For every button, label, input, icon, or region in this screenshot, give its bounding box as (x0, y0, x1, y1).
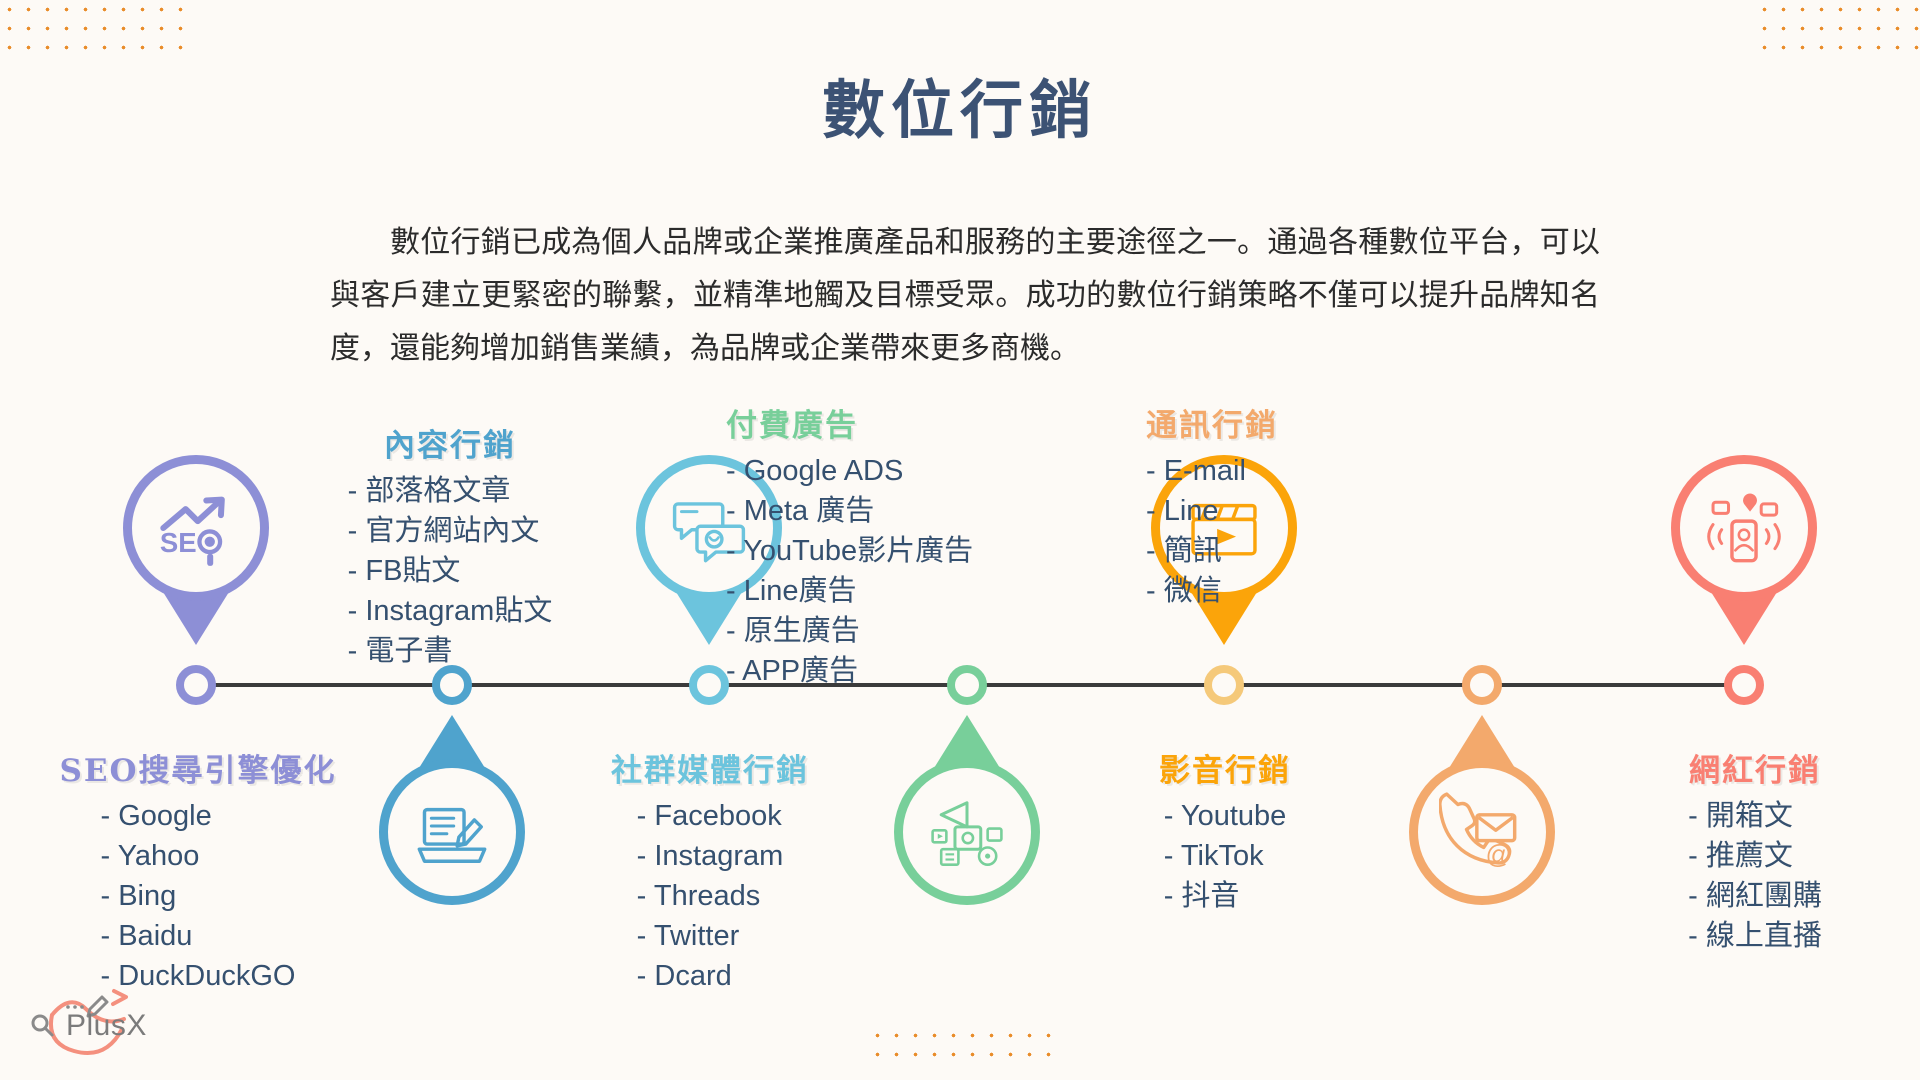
block-social-heading: 社群媒體行銷 (560, 745, 860, 790)
list-item: FB貼文 (348, 551, 553, 591)
block-seo: SEO搜尋引擎優化 Google Yahoo Bing Baidu DuckDu… (38, 745, 358, 996)
pin-content[interactable] (379, 715, 525, 905)
pin-message[interactable]: @ (1409, 715, 1555, 905)
list-item: YouTube影片廣告 (726, 531, 1056, 571)
list-item: Bing (101, 876, 296, 916)
block-message: 通訊行銷 E-mail Line 簡訊 微信 (1146, 400, 1446, 611)
phone-email-icon: @ (1439, 789, 1525, 875)
pin-seo[interactable]: SE (123, 455, 269, 645)
list-item: Google (101, 796, 296, 836)
list-item: Instagram (637, 836, 784, 876)
list-item: TikTok (1164, 836, 1287, 876)
block-social-list: Facebook Instagram Threads Twitter Dcard (637, 796, 784, 996)
timeline-node-influencer[interactable] (1724, 665, 1764, 705)
block-content-list: 部落格文章 官方網站內文 FB貼文 Instagram貼文 電子書 (348, 471, 553, 671)
list-item: Meta 廣告 (726, 491, 1056, 531)
timeline-node-seo[interactable] (176, 665, 216, 705)
block-influencer-list: 開箱文 推薦文 網紅團購 線上直播 (1688, 796, 1822, 956)
seo-chart-icon: SE (153, 485, 239, 571)
list-item: 微信 (1146, 571, 1446, 611)
block-video: 影音行銷 Youtube TikTok 抖音 (1090, 745, 1360, 916)
list-item: Dcard (637, 956, 784, 996)
list-item: Instagram貼文 (348, 591, 553, 631)
list-item: E-mail (1146, 451, 1446, 491)
list-item: Threads (637, 876, 784, 916)
logo-text: PlusX (66, 1009, 147, 1043)
content-pencil-laptop-icon (409, 789, 495, 875)
block-content-heading: 內容行銷 (300, 420, 600, 465)
list-item: Twitter (637, 916, 784, 956)
list-item: 線上直播 (1688, 916, 1822, 956)
block-paid-heading: 付費廣告 (726, 400, 1056, 445)
list-item: 簡訊 (1146, 531, 1446, 571)
pin-paid[interactable] (894, 715, 1040, 905)
list-item: Yahoo (101, 836, 296, 876)
pin-influencer-bubble (1671, 455, 1817, 601)
infographic-canvas: 數位行銷 數位行銷已成為個人品牌或企業推廣產品和服務的主要途徑之一。通過各種數位… (0, 0, 1920, 1080)
timeline-node-video[interactable] (1204, 665, 1244, 705)
list-item: Line (1146, 491, 1446, 531)
plusx-logo[interactable]: PlusX (18, 985, 168, 1065)
block-seo-list: Google Yahoo Bing Baidu DuckDuckGO (101, 796, 296, 996)
influencer-phone-icon (1701, 485, 1787, 571)
list-item: Google ADS (726, 451, 1056, 491)
pin-content-bubble (379, 759, 525, 905)
dot-pattern-bottom-center (868, 1026, 1058, 1068)
list-item: 推薦文 (1688, 836, 1822, 876)
pin-message-bubble: @ (1409, 759, 1555, 905)
block-message-heading: 通訊行銷 (1146, 400, 1446, 445)
pin-paid-bubble (894, 759, 1040, 905)
list-item: Line廣告 (726, 571, 1056, 611)
timeline-node-content[interactable] (432, 665, 472, 705)
svg-text:@: @ (1485, 841, 1511, 869)
timeline-node-social[interactable] (689, 665, 729, 705)
pin-influencer[interactable] (1671, 455, 1817, 645)
svg-text:SE: SE (160, 527, 197, 558)
list-item: 開箱文 (1688, 796, 1822, 836)
list-item: 部落格文章 (348, 471, 553, 511)
megaphone-ads-icon (924, 789, 1010, 875)
block-video-list: Youtube TikTok 抖音 (1164, 796, 1287, 916)
block-content: 內容行銷 部落格文章 官方網站內文 FB貼文 Instagram貼文 電子書 (300, 420, 600, 671)
block-social: 社群媒體行銷 Facebook Instagram Threads Twitte… (560, 745, 860, 996)
list-item: Baidu (101, 916, 296, 956)
list-item: 網紅團購 (1688, 876, 1822, 916)
list-item: APP廣告 (726, 651, 1056, 691)
list-item: 抖音 (1164, 876, 1287, 916)
timeline-node-message[interactable] (1462, 665, 1502, 705)
block-video-heading: 影音行銷 (1090, 745, 1360, 790)
intro-paragraph: 數位行銷已成為個人品牌或企業推廣產品和服務的主要途徑之一。通過各種數位平台，可以… (330, 216, 1600, 375)
list-item: Youtube (1164, 796, 1287, 836)
block-influencer: 網紅行銷 開箱文 推薦文 網紅團購 線上直播 (1610, 745, 1900, 956)
list-item: Facebook (637, 796, 784, 836)
block-paid: 付費廣告 Google ADS Meta 廣告 YouTube影片廣告 Line… (726, 400, 1056, 691)
block-message-list: E-mail Line 簡訊 微信 (1146, 451, 1446, 611)
block-seo-heading: SEO搜尋引擎優化 (38, 745, 358, 790)
dot-pattern-top-left (0, 0, 190, 64)
list-item: 官方網站內文 (348, 511, 553, 551)
list-item: 原生廣告 (726, 611, 1056, 651)
page-title: 數位行銷 (0, 60, 1920, 151)
list-item: 電子書 (348, 631, 553, 671)
block-paid-list: Google ADS Meta 廣告 YouTube影片廣告 Line廣告 原生… (726, 451, 1056, 691)
dot-pattern-top-right (1755, 0, 1920, 64)
block-influencer-heading: 網紅行銷 (1610, 745, 1900, 790)
pin-seo-bubble: SE (123, 455, 269, 601)
